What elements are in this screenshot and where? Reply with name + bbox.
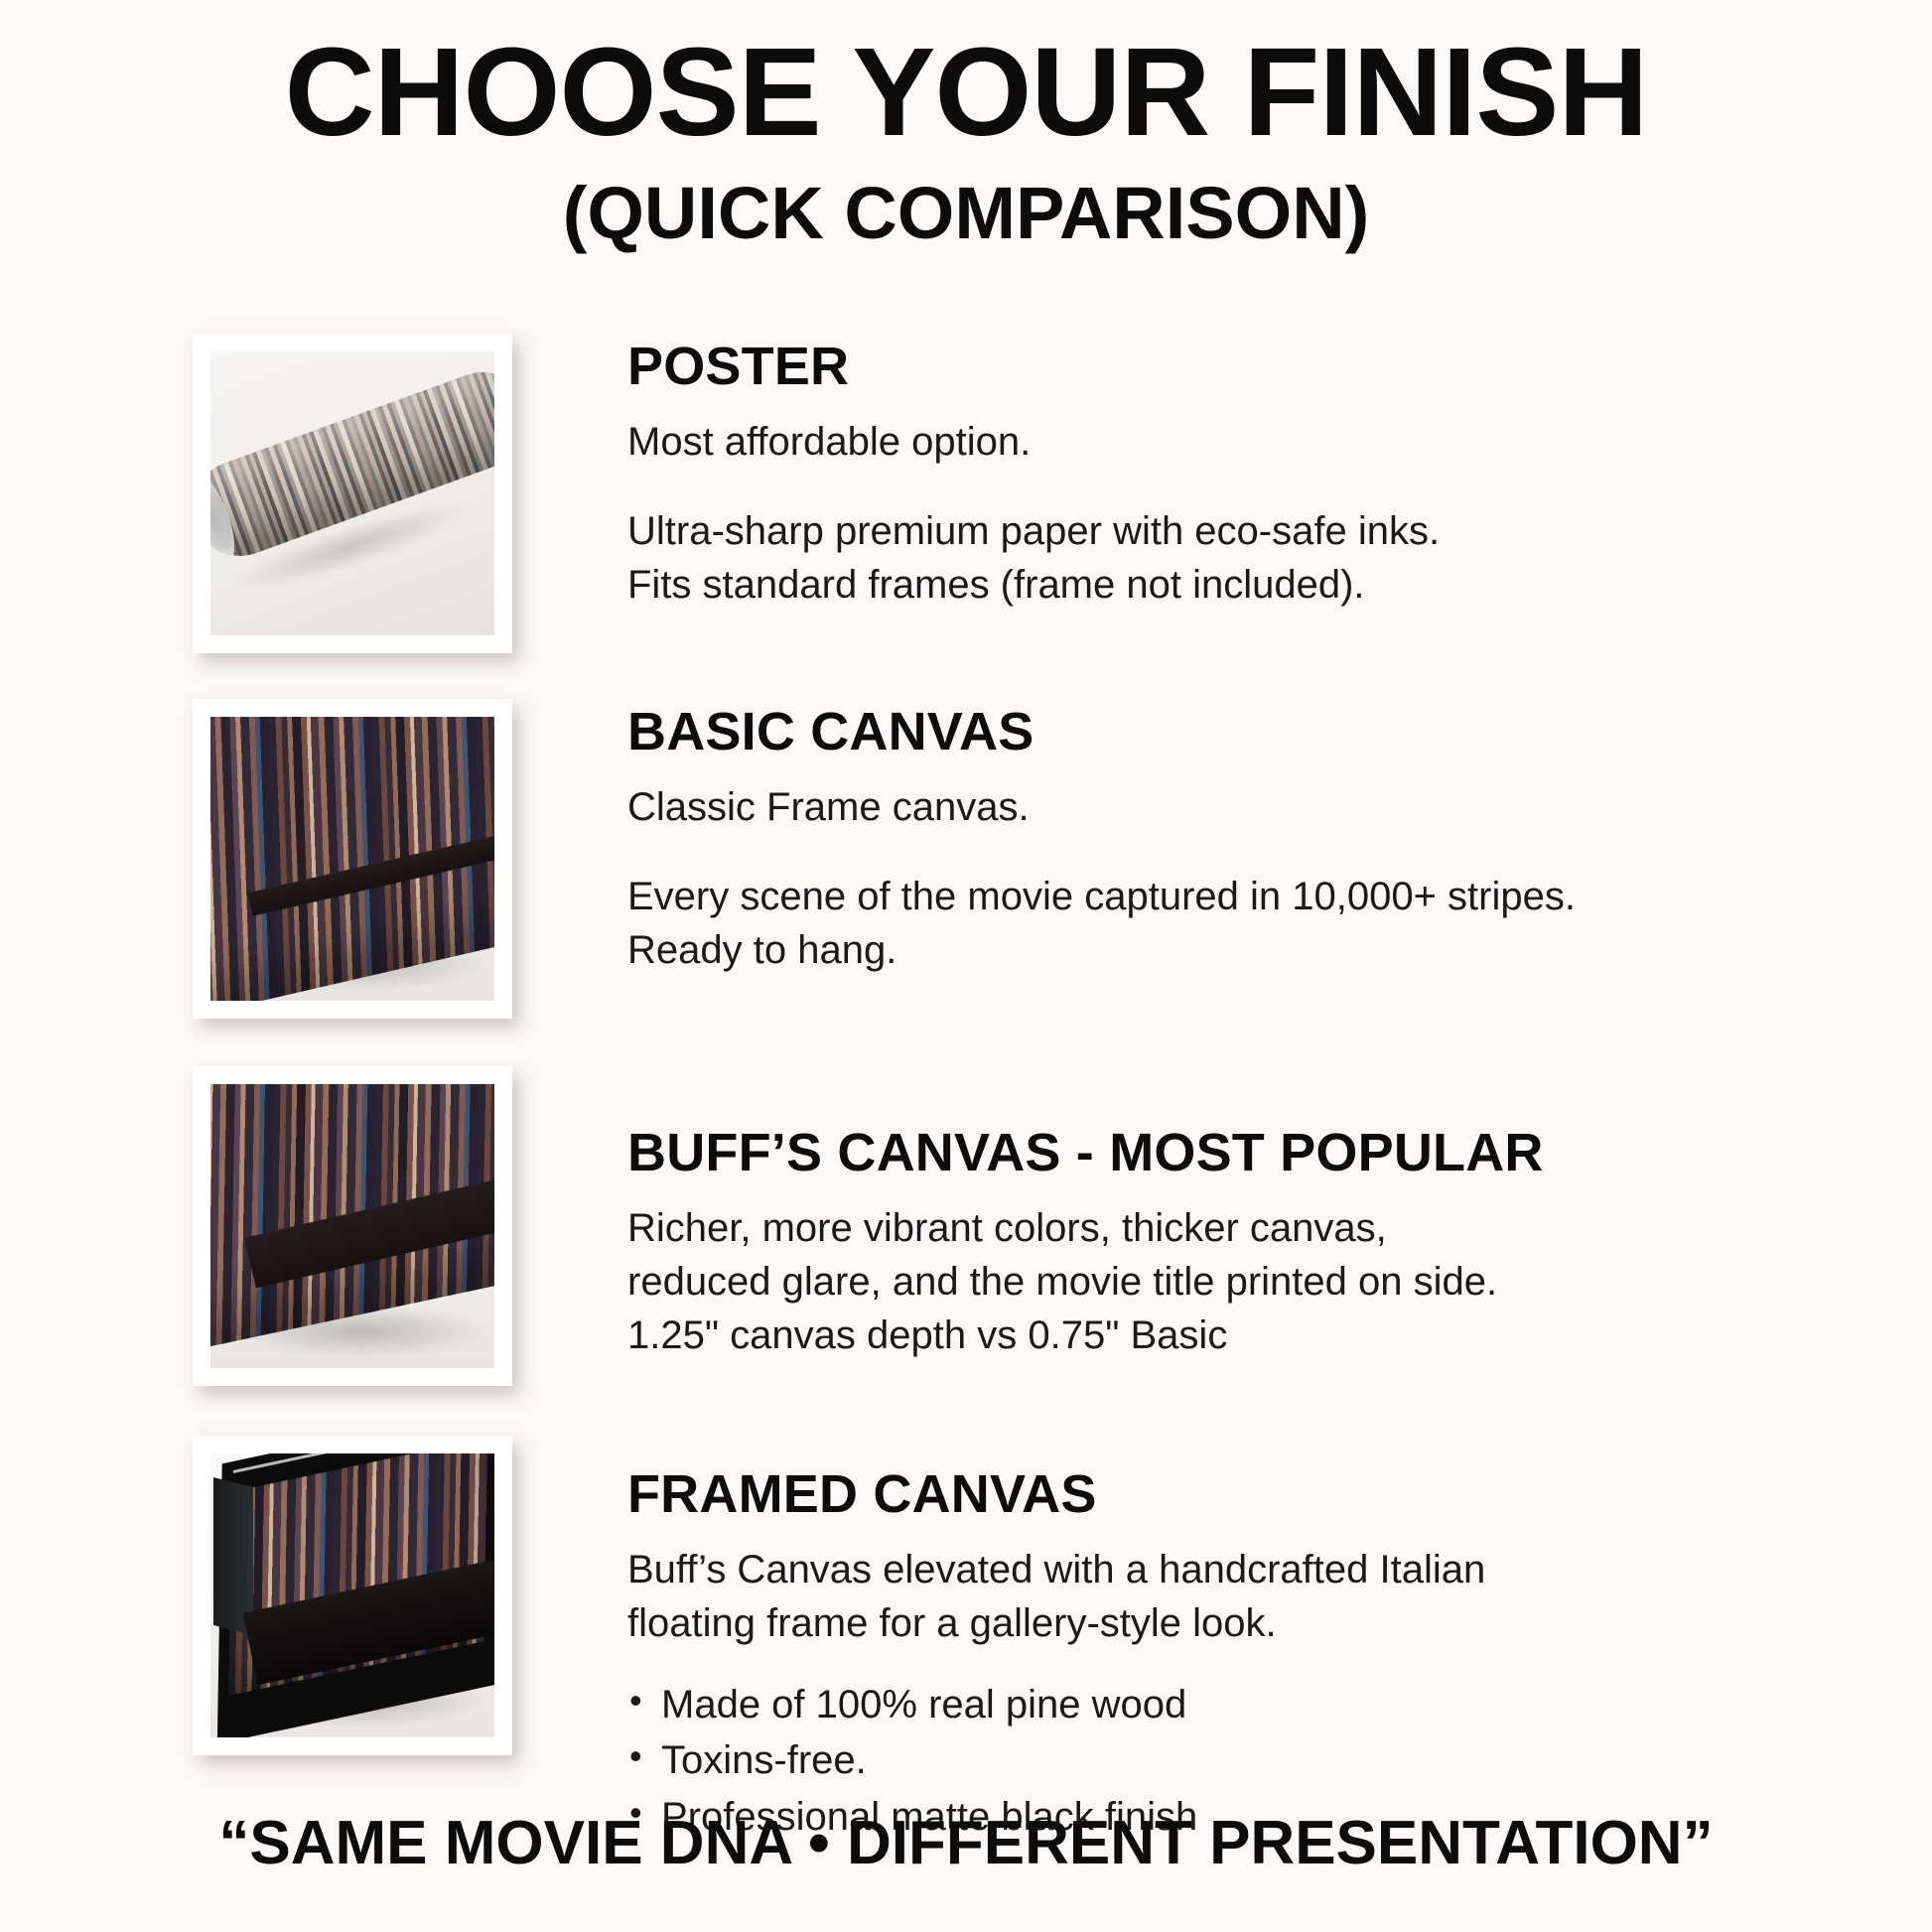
poster-roll-end bbox=[210, 469, 243, 570]
poster-image-card bbox=[193, 334, 512, 653]
buffs-canvas-line-1: Richer, more vibrant colors, thicker can… bbox=[627, 1202, 1932, 1256]
poster-copy: POSTER Most affordable option. Ultra-sha… bbox=[512, 334, 1932, 612]
buffs-canvas-copy: BUFF’S CANVAS - MOST POPULAR Richer, mor… bbox=[512, 1066, 1932, 1362]
list-item: Made of 100% real pine wood bbox=[627, 1677, 1932, 1733]
footer: “SAME MOVIE DNA • DIFFERENT PRESENTATION… bbox=[0, 1808, 1932, 1878]
page-subtitle: (QUICK COMPARISON) bbox=[0, 173, 1932, 253]
infographic-page: CHOOSE YOUR FINISH (QUICK COMPARISON) PO… bbox=[0, 0, 1932, 1932]
option-row-basic-canvas: BASIC CANVAS Classic Frame canvas. Every… bbox=[0, 699, 1932, 1066]
buffs-canvas-line-2: reduced glare, and the movie title print… bbox=[627, 1256, 1932, 1310]
option-title-buffs-canvas: BUFF’S CANVAS - MOST POPULAR bbox=[627, 1124, 1932, 1182]
list-item: Toxins-free. bbox=[627, 1732, 1932, 1789]
buffs-canvas-scene bbox=[210, 1084, 494, 1368]
basic-canvas-scene bbox=[210, 717, 494, 1001]
option-title-basic-canvas: BASIC CANVAS bbox=[627, 703, 1932, 761]
option-row-buffs-canvas: BUFF’S CANVAS - MOST POPULAR Richer, mor… bbox=[0, 1066, 1932, 1436]
buffs-canvas-image-card bbox=[193, 1066, 512, 1386]
footer-tagline: “SAME MOVIE DNA • DIFFERENT PRESENTATION… bbox=[0, 1808, 1932, 1878]
poster-line-3: Fits standard frames (frame not included… bbox=[627, 559, 1932, 613]
option-title-framed-canvas: FRAMED CANVAS bbox=[627, 1465, 1932, 1524]
basic-canvas-line-3: Ready to hang. bbox=[627, 924, 1932, 978]
poster-line-2: Ultra-sharp premium paper with eco-safe … bbox=[627, 505, 1932, 559]
buffs-canvas-image bbox=[210, 1084, 494, 1368]
framed-canvas-image-card bbox=[193, 1436, 512, 1755]
header: CHOOSE YOUR FINISH (QUICK COMPARISON) bbox=[0, 0, 1932, 253]
basic-canvas-copy: BASIC CANVAS Classic Frame canvas. Every… bbox=[512, 699, 1932, 977]
framed-canvas-copy: FRAMED CANVAS Buff’s Canvas elevated wit… bbox=[512, 1436, 1932, 1846]
framed-canvas-side-edge bbox=[213, 1477, 253, 1635]
option-title-poster: POSTER bbox=[627, 338, 1932, 396]
poster-line-1: Most affordable option. bbox=[627, 416, 1932, 470]
framed-canvas-image bbox=[210, 1453, 494, 1737]
option-row-poster: POSTER Most affordable option. Ultra-sha… bbox=[0, 334, 1932, 699]
basic-canvas-image-card bbox=[193, 699, 512, 1019]
basic-canvas-line-2: Every scene of the movie captured in 10,… bbox=[627, 871, 1932, 924]
basic-canvas-line-1: Classic Frame canvas. bbox=[627, 781, 1932, 835]
poster-image bbox=[210, 351, 494, 635]
basic-canvas-image bbox=[210, 717, 494, 1001]
poster-scene bbox=[210, 351, 494, 635]
buffs-canvas-line-3: 1.25" canvas depth vs 0.75" Basic bbox=[627, 1310, 1932, 1363]
framed-canvas-scene bbox=[210, 1453, 494, 1737]
framed-canvas-line-2: floating frame for a gallery-style look. bbox=[627, 1597, 1932, 1651]
page-title: CHOOSE YOUR FINISH bbox=[0, 26, 1932, 159]
option-row-framed-canvas: FRAMED CANVAS Buff’s Canvas elevated wit… bbox=[0, 1436, 1932, 1813]
framed-canvas-line-1: Buff’s Canvas elevated with a handcrafte… bbox=[627, 1544, 1932, 1597]
comparison-list: POSTER Most affordable option. Ultra-sha… bbox=[0, 334, 1932, 1813]
